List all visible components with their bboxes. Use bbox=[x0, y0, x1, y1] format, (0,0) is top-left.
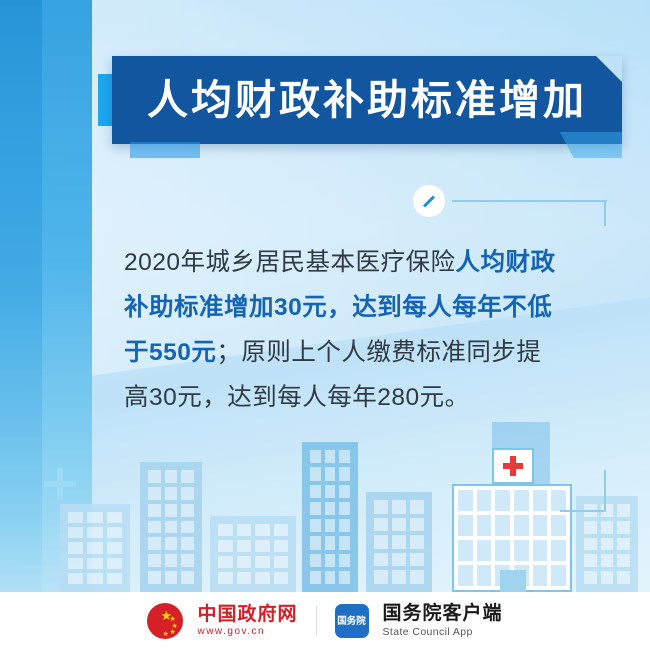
gov-site-name-en: www.gov.cn bbox=[197, 626, 297, 638]
title-accent-block bbox=[98, 74, 112, 126]
state-council-label: 国务院客户端 State Council App bbox=[383, 603, 503, 638]
footer-divider bbox=[316, 606, 317, 636]
hospital-cross-icon bbox=[503, 456, 523, 476]
gov-site-name-cn: 中国政府网 bbox=[197, 604, 297, 626]
building bbox=[492, 422, 550, 592]
page-title: 人均财政补助标准增加 bbox=[112, 56, 622, 144]
title-shadow-right bbox=[560, 132, 622, 158]
plus-decor-icon bbox=[44, 468, 76, 500]
state-council-badge-icon: 国务院 bbox=[335, 604, 369, 638]
building-windows bbox=[210, 516, 296, 592]
building bbox=[210, 516, 296, 592]
hospital-door bbox=[500, 570, 526, 592]
decor-corner-top-right bbox=[604, 200, 606, 226]
body-segment-plain-1: 2020年城乡居民基本医疗保险 bbox=[124, 249, 456, 276]
state-council-name-en: State Council App bbox=[383, 626, 503, 639]
footer-bar: ★ ★ ★ ★ ★ 中国政府网 www.gov.cn 国务院 国务院客户端 St… bbox=[0, 592, 650, 650]
state-council-name-cn: 国务院客户端 bbox=[383, 603, 503, 626]
hospital-roof bbox=[492, 448, 534, 484]
hospital-building bbox=[452, 484, 572, 592]
gov-site-label: 中国政府网 www.gov.cn bbox=[197, 604, 297, 637]
left-color-strip bbox=[0, 0, 92, 650]
poster-canvas: 人均财政补助标准增加 2020年城乡居民基本医疗保险人均财政补助标准增加30元，… bbox=[0, 0, 650, 650]
decor-corner-bottom-right-horizontal bbox=[560, 510, 606, 512]
decor-corner-bottom-right-vertical bbox=[604, 470, 606, 512]
building-windows bbox=[366, 492, 432, 592]
footer-content: ★ ★ ★ ★ ★ 中国政府网 www.gov.cn 国务院 国务院客户端 St… bbox=[0, 592, 650, 650]
building-windows bbox=[140, 462, 202, 592]
decor-line-top bbox=[452, 200, 607, 202]
building bbox=[302, 442, 358, 592]
slash-icon-bar bbox=[423, 195, 435, 207]
slash-circle-icon bbox=[413, 185, 445, 217]
national-emblem-icon: ★ ★ ★ ★ ★ bbox=[147, 603, 183, 639]
title-shadow-left bbox=[130, 142, 200, 158]
left-color-strip-inner bbox=[0, 0, 42, 650]
building bbox=[366, 492, 432, 592]
building bbox=[140, 462, 202, 592]
hospital-windows bbox=[458, 490, 566, 586]
building-windows bbox=[302, 442, 358, 592]
title-banner: 人均财政补助标准增加 bbox=[112, 56, 622, 144]
body-paragraph: 2020年城乡居民基本医疗保险人均财政补助标准增加30元，达到每人每年不低于55… bbox=[124, 240, 564, 420]
